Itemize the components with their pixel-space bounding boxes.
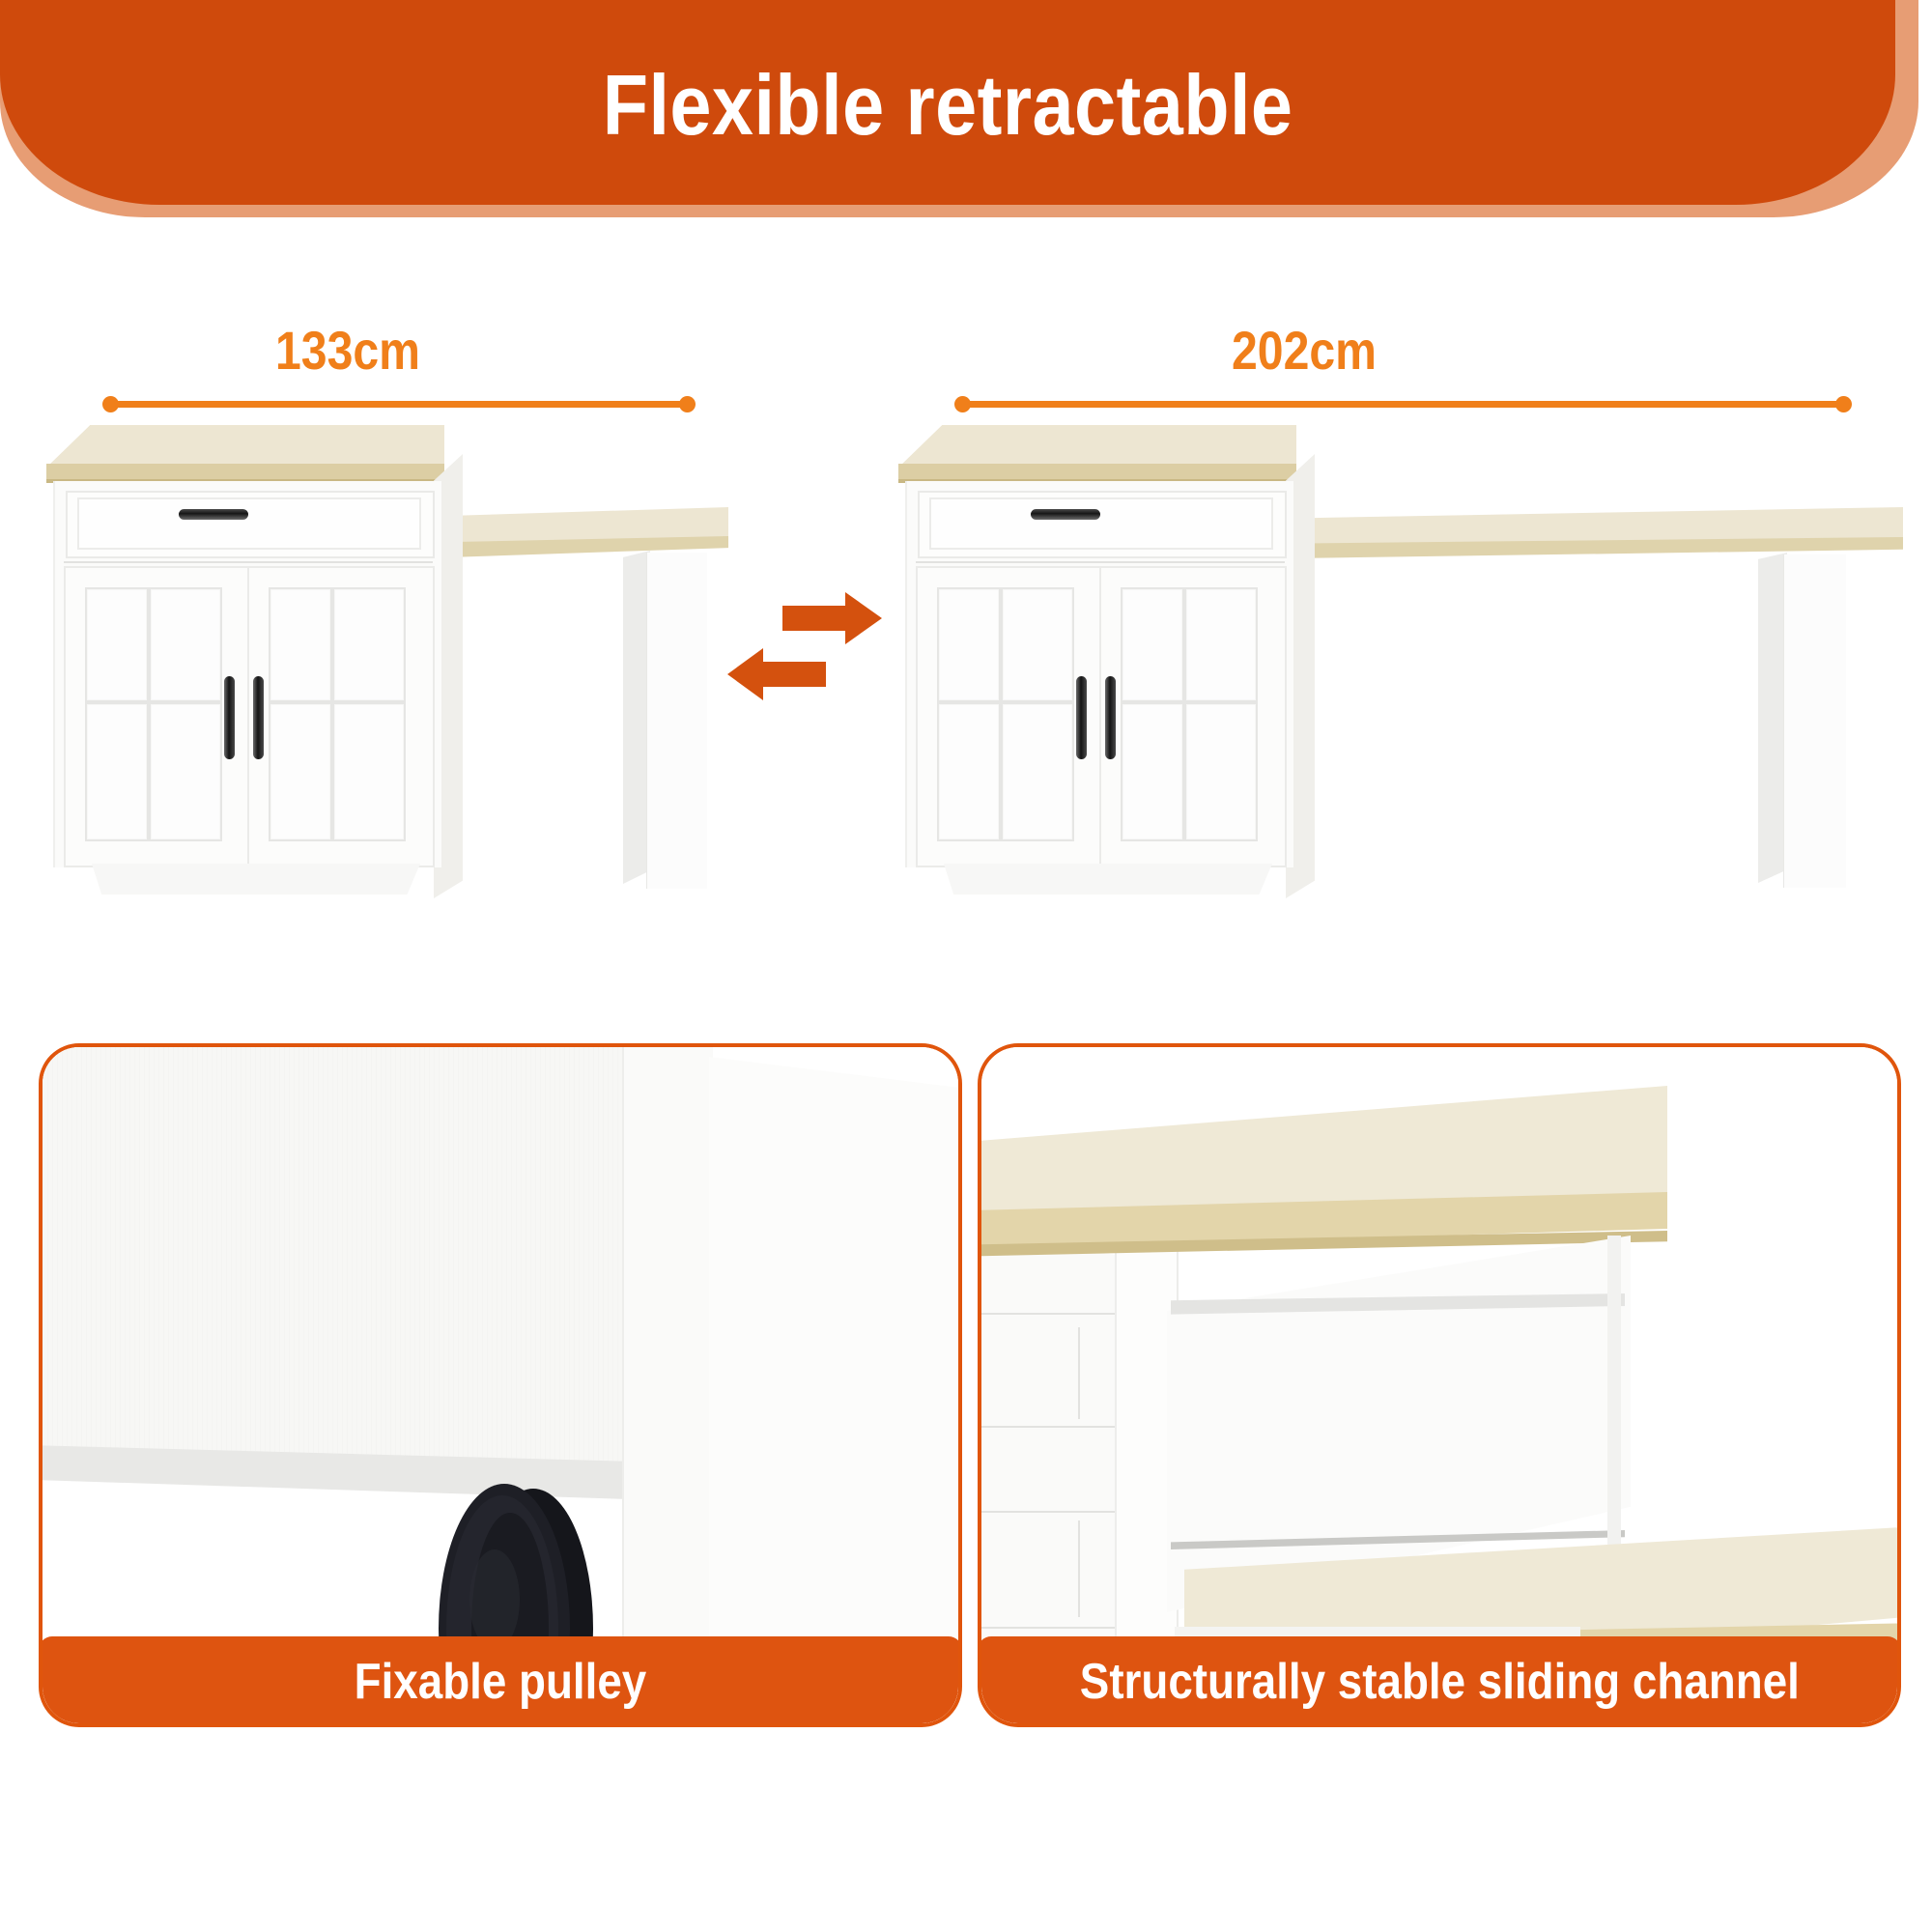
door-panel-retracted <box>269 702 332 841</box>
drawer-inner-panel-extended <box>929 497 1273 550</box>
door-panel-extended <box>937 702 1001 841</box>
drawer-handle-retracted[interactable] <box>179 509 248 520</box>
door-panel-retracted <box>332 587 406 702</box>
caption-bar-sliding-channel: Structurally stable sliding channel <box>978 1636 1901 1727</box>
door-panel-extended <box>1184 587 1258 702</box>
arrow-left-icon <box>727 648 826 700</box>
cabinet-back-panel-photo <box>39 1047 651 1463</box>
drawer-inner-panel-retracted <box>77 497 421 550</box>
drawer-seam-photo <box>978 1426 1121 1428</box>
dimension-133-dot-left <box>102 396 119 412</box>
drawer-bottom-divider-extended <box>916 561 1285 563</box>
door-panel-extended <box>1001 702 1074 841</box>
dimension-133-dot-right <box>679 396 696 412</box>
drawer-seam-photo <box>978 1627 1121 1629</box>
door-panel-retracted <box>85 702 149 841</box>
door-panel-extended <box>1121 702 1184 841</box>
feature-card-fixable-pulley: Fixable pulley <box>39 1043 962 1727</box>
door-handle-right-extended[interactable] <box>1105 676 1116 759</box>
dimension-202-dot-right <box>1835 396 1852 412</box>
infographic-root: Flexible retractable 133cm 202cm <box>0 0 1932 1932</box>
door-panel-extended <box>1184 702 1258 841</box>
cabinet-side-panel-face-photo <box>709 1057 962 1727</box>
door-panel-retracted <box>149 587 222 702</box>
door-panel-extended <box>1001 587 1074 702</box>
door-panel-retracted <box>85 587 149 702</box>
drawer-seam-photo <box>978 1511 1121 1513</box>
drawer-seam-vertical-photo <box>1078 1520 1080 1617</box>
cabinet-plinth-extended <box>944 864 1272 895</box>
header-banner-fill: Flexible retractable <box>0 0 1895 205</box>
door-handle-right-retracted[interactable] <box>253 676 264 759</box>
door-handle-left-extended[interactable] <box>1076 676 1087 759</box>
drawer-handle-extended[interactable] <box>1031 509 1100 520</box>
door-panel-retracted <box>149 702 222 841</box>
drawer-seam-photo <box>978 1313 1121 1315</box>
dimension-133-label: 133cm <box>140 319 555 382</box>
dimension-202-line <box>961 401 1845 408</box>
caption-fixable-pulley: Fixable pulley <box>355 1653 647 1711</box>
cabinet-top-surface-main <box>46 425 444 468</box>
door-panel-retracted <box>332 702 406 841</box>
door-panel-extended <box>1121 587 1184 702</box>
door-panel-extended <box>937 587 1001 702</box>
drawer-bottom-divider-retracted <box>64 561 433 563</box>
cabinet-top-surface-extended <box>898 425 1296 468</box>
shelf-leg-face-retracted <box>646 553 707 889</box>
dimension-133-line <box>109 401 689 408</box>
page-title: Flexible retractable <box>603 56 1293 155</box>
drawer-seam-vertical-photo <box>1078 1327 1080 1419</box>
dimension-202-dot-left <box>954 396 971 412</box>
dimension-202-label: 202cm <box>1122 319 1487 382</box>
caption-sliding-channel: Structurally stable sliding channel <box>1079 1653 1799 1711</box>
feature-card-sliding-channel: Structurally stable sliding channel <box>978 1043 1901 1727</box>
cabinet-plinth-retracted <box>92 864 420 895</box>
cabinet-side-panel-photo <box>622 1043 713 1727</box>
shelf-leg-face-extended <box>1783 554 1846 888</box>
caption-bar-fixable-pulley: Fixable pulley <box>39 1636 962 1727</box>
arrow-right-icon <box>782 592 882 644</box>
channel-right-edge-photo <box>1607 1236 1621 1564</box>
door-panel-retracted <box>269 587 332 702</box>
door-handle-left-retracted[interactable] <box>224 676 235 759</box>
